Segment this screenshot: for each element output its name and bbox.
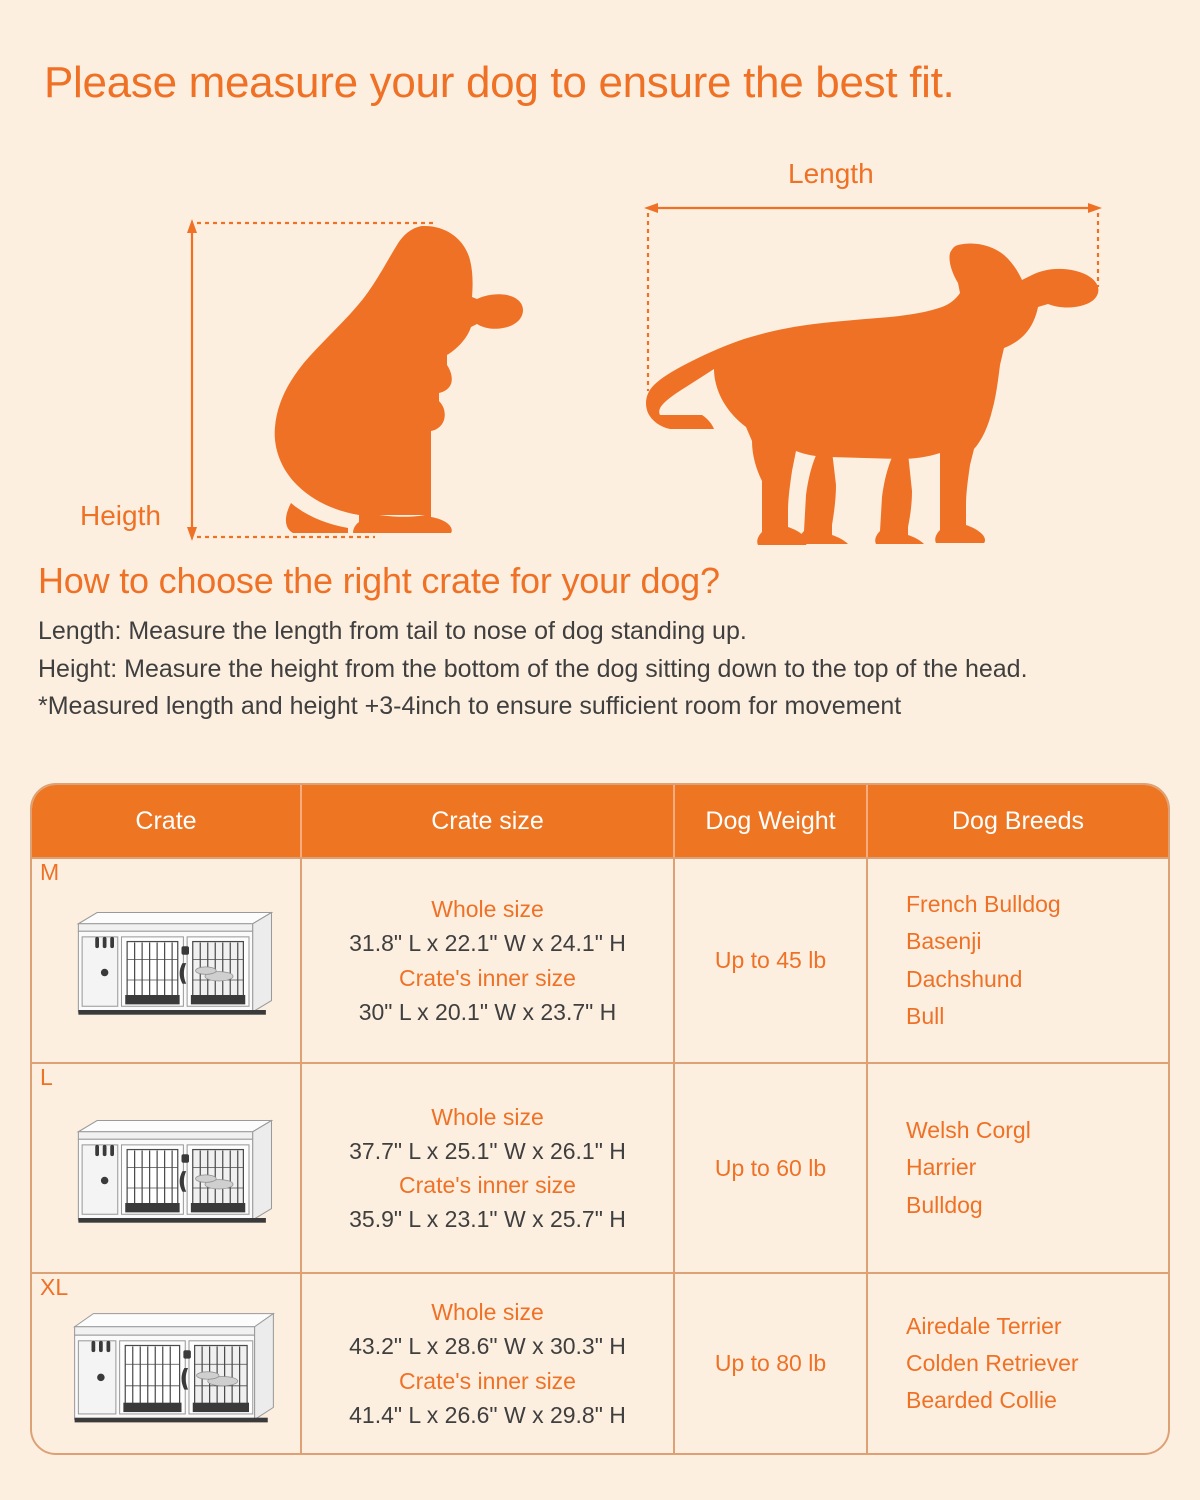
crate-size-cell: Whole size 31.8" L x 22.1" W x 24.1" H C…: [302, 859, 675, 1062]
crate-cell: L: [32, 1064, 302, 1272]
dog-crate-furniture-icon: [54, 890, 279, 1031]
whole-size-label: Whole size: [349, 892, 626, 926]
size-badge: XL: [40, 1276, 68, 1299]
whole-size-value: 43.2" L x 28.6" W x 30.3" H: [349, 1329, 626, 1363]
column-header-crate-size: Crate size: [302, 785, 675, 857]
dog-sitting-silhouette-icon: [185, 215, 605, 545]
page-title: Please measure your dog to ensure the be…: [44, 58, 954, 108]
inner-size-value: 30" L x 20.1" W x 23.7" H: [349, 995, 626, 1029]
breed-item: Dachshund: [906, 961, 1168, 998]
breed-item: Welsh Corgl: [906, 1112, 1168, 1149]
inner-size-label: Crate's inner size: [349, 1168, 626, 1202]
howto-note-line: *Measured length and height +3-4inch to …: [38, 691, 1168, 722]
dog-weight-cell: Up to 60 lb: [675, 1064, 868, 1272]
height-label: Heigth: [80, 500, 161, 532]
crate-cell: M: [32, 859, 302, 1062]
column-header-crate: Crate: [32, 785, 302, 857]
whole-size-value: 37.7" L x 25.1" W x 26.1" H: [349, 1134, 626, 1168]
howto-section: How to choose the right crate for your d…: [38, 560, 1168, 729]
dog-weight-value: Up to 45 lb: [715, 947, 826, 974]
dog-breeds-cell: Airedale Terrier Colden Retriever Bearde…: [868, 1274, 1168, 1453]
table-row: XL: [32, 1272, 1168, 1453]
howto-length-line: Length: Measure the length from tail to …: [38, 616, 1168, 647]
dog-breeds-cell: Welsh Corgl Harrier Bulldog: [868, 1064, 1168, 1272]
dog-weight-cell: Up to 45 lb: [675, 859, 868, 1062]
dog-weight-value: Up to 80 lb: [715, 1350, 826, 1377]
crate-size-cell: Whole size 43.2" L x 28.6" W x 30.3" H C…: [302, 1274, 675, 1453]
table-row: L: [32, 1062, 1168, 1272]
whole-size-label: Whole size: [349, 1100, 626, 1134]
size-badge: M: [40, 861, 59, 884]
breed-item: Bearded Collie: [906, 1382, 1168, 1419]
inner-size-label: Crate's inner size: [349, 1364, 626, 1398]
size-badge: L: [40, 1066, 53, 1089]
dog-standing-silhouette-icon: [640, 195, 1110, 555]
breed-item: Bull: [906, 998, 1168, 1035]
dog-weight-value: Up to 60 lb: [715, 1155, 826, 1182]
breed-item: Airedale Terrier: [906, 1308, 1168, 1345]
crate-size-cell: Whole size 37.7" L x 25.1" W x 26.1" H C…: [302, 1064, 675, 1272]
breed-item: Bulldog: [906, 1187, 1168, 1224]
inner-size-value: 35.9" L x 23.1" W x 25.7" H: [349, 1202, 626, 1236]
crate-size-table: Crate Crate size Dog Weight Dog Breeds M: [30, 783, 1170, 1455]
column-header-dog-breeds: Dog Breeds: [868, 785, 1168, 857]
breed-item: Harrier: [906, 1149, 1168, 1186]
howto-title: How to choose the right crate for your d…: [38, 560, 1168, 602]
table-row: M: [32, 857, 1168, 1062]
dog-crate-furniture-icon: [54, 1098, 279, 1239]
measurement-diagram: Heigth Length: [0, 140, 1200, 560]
dog-crate-furniture-icon: [54, 1293, 279, 1434]
inner-size-label: Crate's inner size: [349, 961, 626, 995]
dog-weight-cell: Up to 80 lb: [675, 1274, 868, 1453]
inner-size-value: 41.4" L x 26.6" W x 29.8" H: [349, 1398, 626, 1432]
whole-size-value: 31.8" L x 22.1" W x 24.1" H: [349, 926, 626, 960]
breed-item: French Bulldog: [906, 886, 1168, 923]
howto-height-line: Height: Measure the height from the bott…: [38, 654, 1168, 685]
column-header-dog-weight: Dog Weight: [675, 785, 868, 857]
dog-breeds-cell: French Bulldog Basenji Dachshund Bull: [868, 859, 1168, 1062]
breed-item: Basenji: [906, 923, 1168, 960]
table-header-row: Crate Crate size Dog Weight Dog Breeds: [32, 785, 1168, 857]
breed-item: Colden Retriever: [906, 1345, 1168, 1382]
length-label: Length: [788, 158, 874, 190]
crate-cell: XL: [32, 1274, 302, 1453]
whole-size-label: Whole size: [349, 1295, 626, 1329]
